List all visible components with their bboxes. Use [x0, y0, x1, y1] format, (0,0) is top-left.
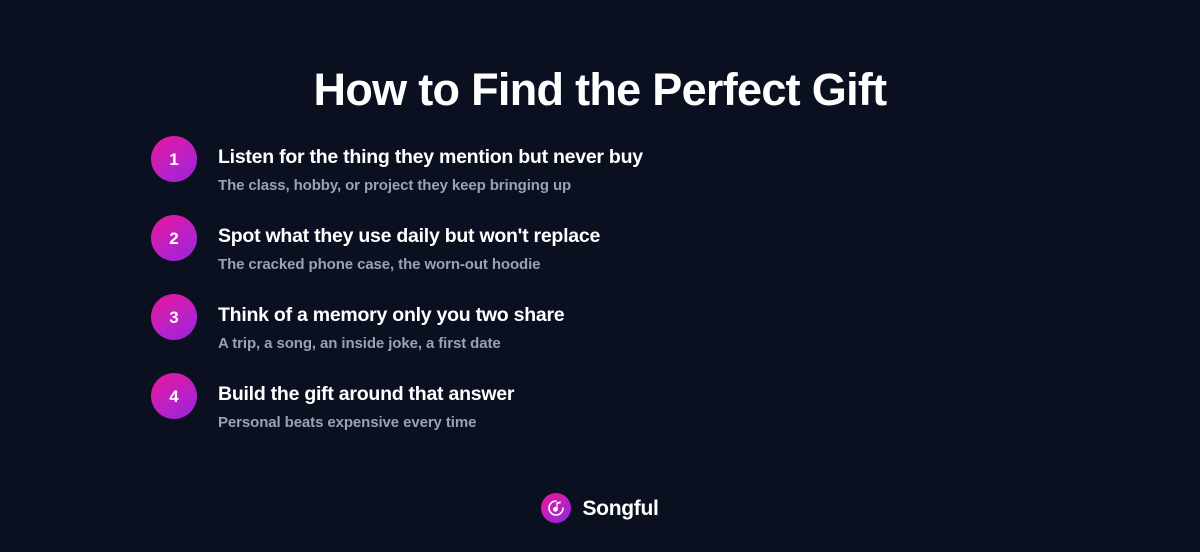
brand-footer: Songful [0, 493, 1200, 523]
step-subtext: A trip, a song, an inside joke, a first … [218, 326, 971, 353]
step-heading: Spot what they use daily but won't repla… [218, 215, 971, 247]
step-subtext: Personal beats expensive every time [218, 405, 971, 432]
list-item: 2 Spot what they use daily but won't rep… [151, 215, 971, 294]
step-subtext: The class, hobby, or project they keep b… [218, 168, 971, 195]
brand-name: Songful [582, 498, 658, 519]
step-number-badge: 2 [151, 215, 197, 261]
steps-list: 1 Listen for the thing they mention but … [151, 136, 971, 452]
gift-tips-poster: How to Find the Perfect Gift 1 Listen fo… [0, 0, 1200, 552]
list-item: 1 Listen for the thing they mention but … [151, 136, 971, 215]
step-subtext: The cracked phone case, the worn-out hoo… [218, 247, 971, 274]
step-heading: Think of a memory only you two share [218, 294, 971, 326]
step-heading: Build the gift around that answer [218, 373, 971, 405]
list-item: 3 Think of a memory only you two share A… [151, 294, 971, 373]
list-item: 4 Build the gift around that answer Pers… [151, 373, 971, 452]
step-number-badge: 1 [151, 136, 197, 182]
page-title: How to Find the Perfect Gift [0, 66, 1200, 113]
step-number-badge: 3 [151, 294, 197, 340]
music-note-record-icon [541, 493, 571, 523]
step-number-badge: 4 [151, 373, 197, 419]
step-heading: Listen for the thing they mention but ne… [218, 136, 971, 168]
